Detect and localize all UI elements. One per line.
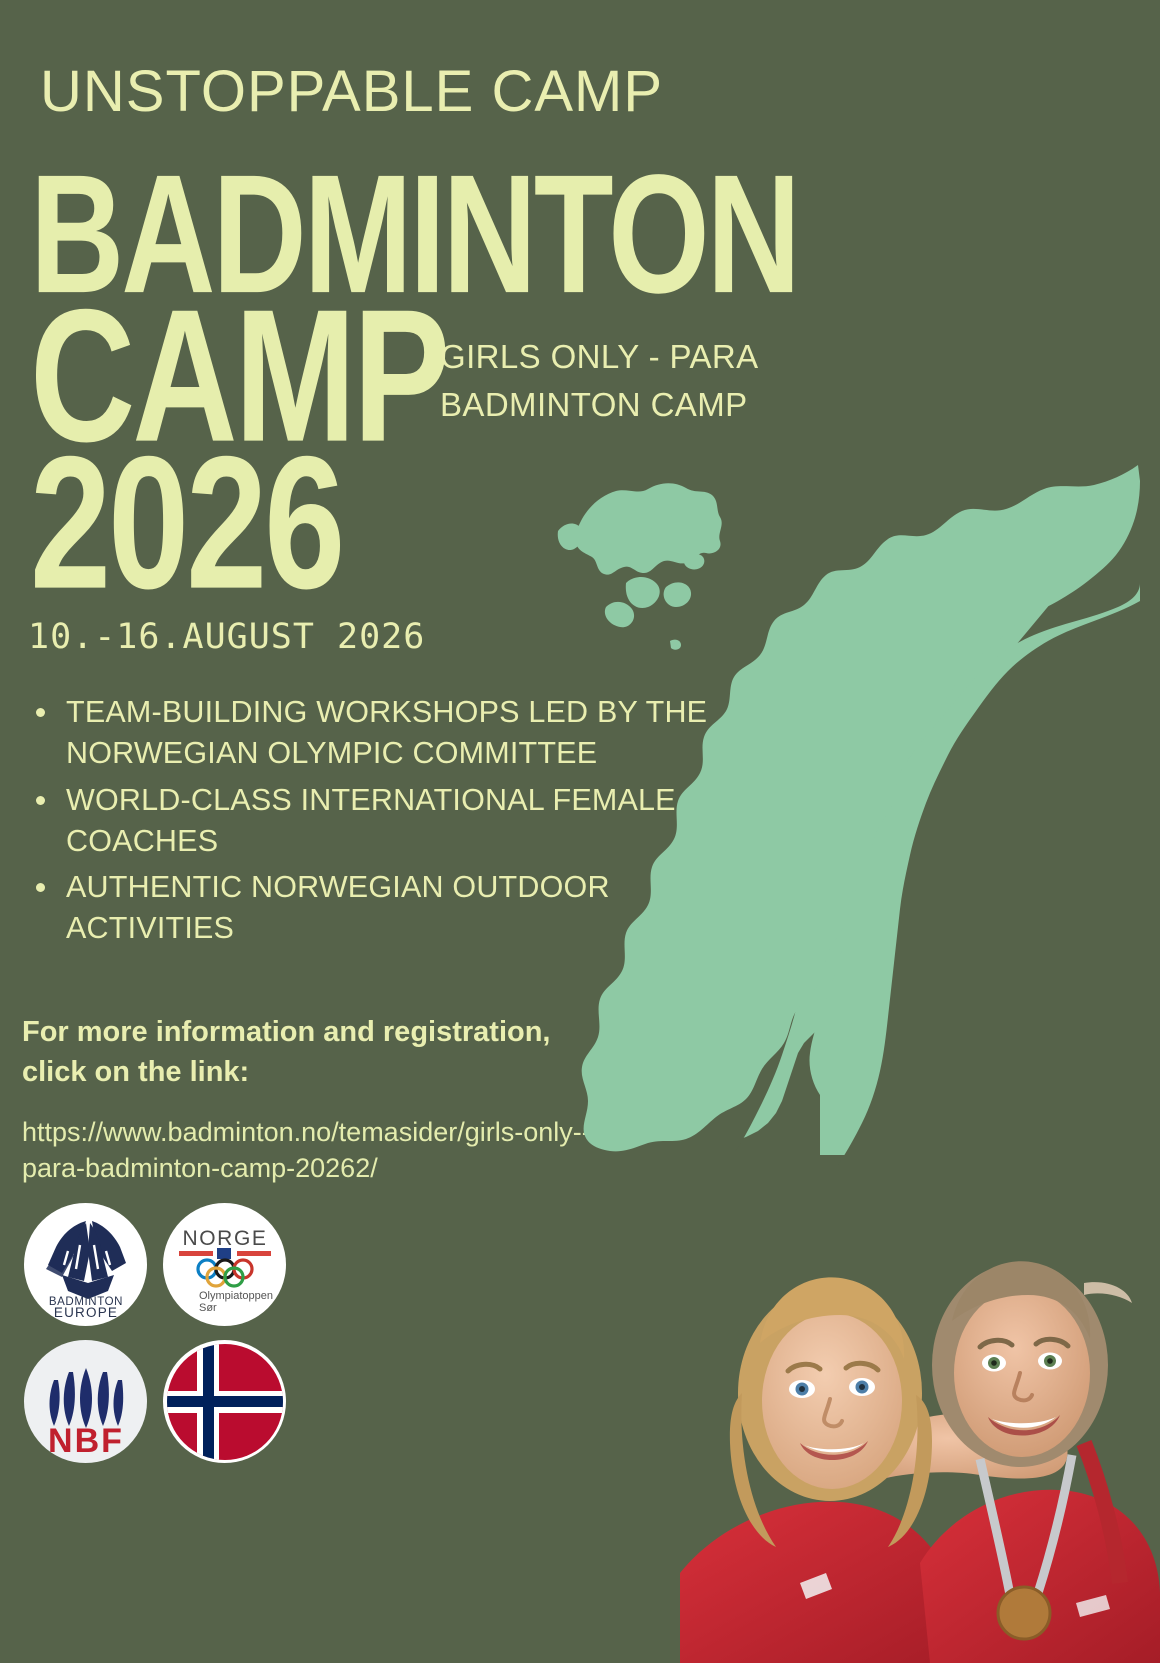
subtitle-line-1: GIRLS ONLY - PARA xyxy=(440,333,800,381)
olympic-rings-icon xyxy=(198,1260,252,1286)
olympiatoppen-sor-logo[interactable]: NORGE Olympiatoppen Sør xyxy=(163,1203,286,1326)
logo-row-bottom: NBF xyxy=(24,1340,344,1463)
badminton-europe-line2: EUROPE xyxy=(53,1305,117,1320)
location-pin xyxy=(645,1058,687,1140)
shuttlecock-icon xyxy=(46,1221,126,1299)
poster-root: UNSTOPPABLE CAMP BADMINTON CAMP 2026 GIR… xyxy=(0,0,1160,1663)
nbf-wordmark: NBF xyxy=(48,1422,124,1460)
registration-link[interactable]: https://www.badminton.no/temasider/girls… xyxy=(22,1115,612,1186)
subtitle-line-2: BADMINTON CAMP xyxy=(440,381,800,429)
list-item: TEAM-BUILDING WORKSHOPS LED BY THE NORWE… xyxy=(28,692,708,774)
nbf-logo[interactable]: NBF xyxy=(24,1340,147,1463)
logo-row-top: BADMINTON EUROPE NORGE xyxy=(24,1203,344,1326)
partner-logos: BADMINTON EUROPE NORGE xyxy=(24,1203,344,1477)
highlights-list: TEAM-BUILDING WORKSHOPS LED BY THE NORWE… xyxy=(28,692,708,955)
badminton-europe-logo[interactable]: BADMINTON EUROPE xyxy=(24,1203,147,1326)
norwegian-flag-icon xyxy=(167,1344,283,1460)
list-item: AUTHENTIC NORWEGIAN OUTDOOR ACTIVITIES xyxy=(28,867,708,949)
title-line-3: 2026 xyxy=(30,449,798,600)
olympiatoppen-region: Sør xyxy=(199,1302,217,1314)
two-athletes-photo xyxy=(680,1143,1160,1663)
camp-dates: 10.-16.AUGUST 2026 xyxy=(28,617,425,657)
highlight-text: WORLD-CLASS INTERNATIONAL FEMALE COACHES xyxy=(66,783,676,858)
highlight-text: TEAM-BUILDING WORKSHOPS LED BY THE NORWE… xyxy=(66,695,707,770)
kicker-text: UNSTOPPABLE CAMP xyxy=(40,58,663,125)
cta-text: For more information and registration, c… xyxy=(22,1012,612,1092)
pin-head xyxy=(645,1058,687,1100)
norge-wordmark: NORGE xyxy=(182,1227,267,1250)
norway-flag-logo[interactable] xyxy=(163,1340,286,1463)
highlight-text: AUTHENTIC NORWEGIAN OUTDOOR ACTIVITIES xyxy=(66,870,610,945)
bullet-dot-icon xyxy=(36,708,45,717)
bullet-dot-icon xyxy=(36,796,45,805)
list-item: WORLD-CLASS INTERNATIONAL FEMALE COACHES xyxy=(28,780,708,862)
subtitle: GIRLS ONLY - PARA BADMINTON CAMP xyxy=(440,333,800,429)
feathers-icon xyxy=(49,1368,123,1428)
bullet-dot-icon xyxy=(36,883,45,892)
olympiatoppen-line: Olympiatoppen xyxy=(199,1290,273,1302)
